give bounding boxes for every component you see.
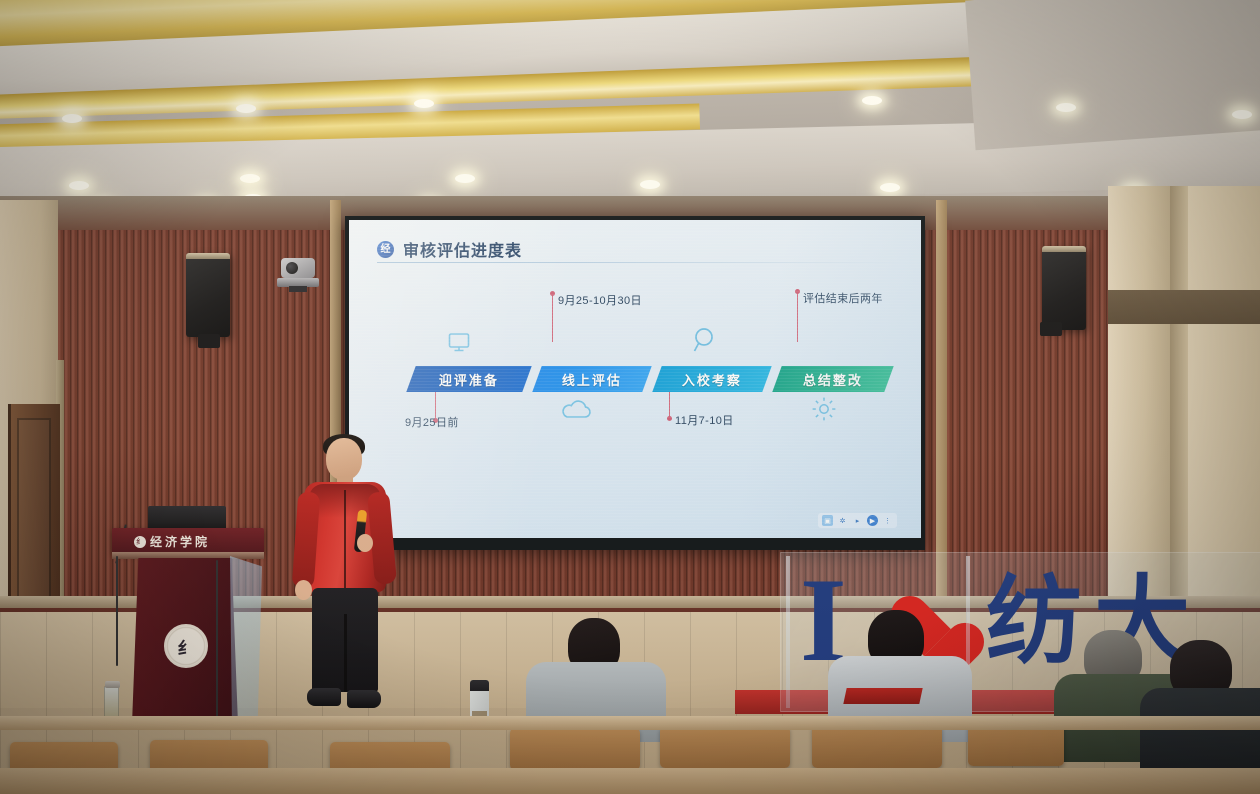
audience-member [1150, 640, 1260, 760]
speaker-top-cap [186, 253, 230, 259]
monitor-icon [447, 332, 471, 359]
presenter-head [326, 438, 362, 480]
audience-member [520, 618, 670, 728]
audience-torso [1140, 688, 1260, 778]
chair[interactable] [812, 724, 942, 768]
lecture-hall-photo: 审核评估进度表 [0, 0, 1260, 794]
camera-lens-icon [286, 262, 298, 274]
thermos-cap [470, 680, 489, 691]
presenter [295, 438, 395, 716]
ceiling-downlight [640, 180, 660, 189]
ceiling-downlight [240, 174, 260, 183]
chair[interactable] [510, 728, 640, 770]
lectern-sign: 经济学院 [134, 533, 210, 550]
right-speaker-mount [1040, 322, 1062, 336]
stage-2-label: 线上评估 [562, 370, 622, 389]
pointer-icon[interactable]: ▸ [852, 515, 863, 526]
cloud-icon [559, 400, 593, 425]
door-panel [17, 418, 51, 598]
presenter-right-hand [357, 534, 373, 552]
lectern-cable [216, 560, 218, 728]
stage-3-date: 11月7-10日 [675, 412, 734, 428]
speaker-top-cap [1042, 246, 1086, 252]
right-wall-speaker [1042, 246, 1086, 330]
lectern-top-panel: 经济学院 [112, 528, 264, 554]
stage-3-label: 入校考察 [682, 370, 742, 389]
play-icon[interactable]: ▶ [867, 515, 878, 526]
audience-member [826, 610, 976, 730]
presenter-right-shoe [347, 690, 381, 708]
projection-screen-frame: 审核评估进度表 [345, 216, 925, 550]
stage-2-stem [552, 294, 553, 342]
mid-desk-row [0, 716, 1260, 730]
more-icon[interactable]: ⋮ [882, 515, 893, 526]
chair[interactable] [660, 726, 790, 768]
timeline-stage-4[interactable]: 总结整改 [772, 366, 893, 392]
right-column-dark-band [1108, 290, 1260, 324]
settings-icon[interactable]: ✲ [837, 515, 848, 526]
stage-1-label: 迎评准备 [439, 370, 499, 389]
timeline-stage-2[interactable]: 线上评估 [532, 366, 651, 392]
bottle-cap [105, 681, 120, 688]
university-emblem-icon [377, 241, 394, 258]
slide-title-rule [377, 262, 901, 263]
stage-4-label: 总结整改 [803, 370, 863, 389]
side-door[interactable] [8, 404, 60, 620]
ptz-camera-icon [277, 258, 319, 292]
stage-1-date: 9月25日前 [405, 414, 459, 430]
ceiling-downlight [1056, 103, 1076, 112]
page-title: 审核评估进度表 [403, 237, 522, 261]
ceiling-downlight [69, 181, 89, 190]
front-desk-row [0, 768, 1260, 794]
lectern-cable [116, 556, 118, 666]
timeline-stage-1[interactable]: 迎评准备 [406, 366, 531, 392]
left-wall-speaker [186, 253, 230, 337]
magnifier-icon [692, 326, 718, 359]
left-speaker-mount [198, 334, 220, 348]
lectern-monitor [148, 506, 226, 530]
stage-4-date: 评估结束后两年 [803, 290, 883, 306]
fit-screen-icon[interactable]: ▣ [822, 515, 833, 526]
red-folder [843, 688, 922, 704]
lectern: 经济学院 纟 [112, 528, 264, 724]
slide-header: 审核评估进度表 [377, 237, 522, 261]
timeline: 9月25日前 9月25-10月30日 11月7-10日 评估结束后两年 迎评准备… [349, 338, 921, 468]
university-seal-icon: 纟 [164, 624, 208, 668]
ceiling-downlight [862, 96, 882, 105]
ceiling [0, 0, 1260, 215]
stage-4-stem [797, 292, 798, 342]
lectern-top-edge [112, 552, 264, 559]
school-logo-icon [134, 536, 146, 548]
sign-support-pole [786, 556, 790, 708]
stage-2-date: 9月25-10月30日 [558, 292, 642, 308]
ceiling-downlight [880, 183, 900, 192]
timeline-stage-3[interactable]: 入校考察 [652, 366, 771, 392]
ceiling-downlight [1232, 110, 1252, 119]
presentation-toolbar[interactable]: ▣ ✲ ▸ ▶ ⋮ [818, 513, 897, 528]
ceiling-downlight [455, 174, 475, 183]
gear-icon [811, 396, 837, 427]
ceiling-downlight [414, 99, 434, 108]
lectern-acrylic-panel [230, 556, 262, 728]
presenter-left-hand [295, 580, 312, 600]
lectern-sign-text: 经济学院 [150, 533, 210, 550]
ceiling-downlight [62, 114, 82, 123]
projected-slide: 审核评估进度表 [349, 220, 921, 538]
jacket-zipper [344, 490, 346, 590]
ceiling-downlight [236, 104, 256, 113]
presenter-left-shoe [307, 688, 341, 706]
